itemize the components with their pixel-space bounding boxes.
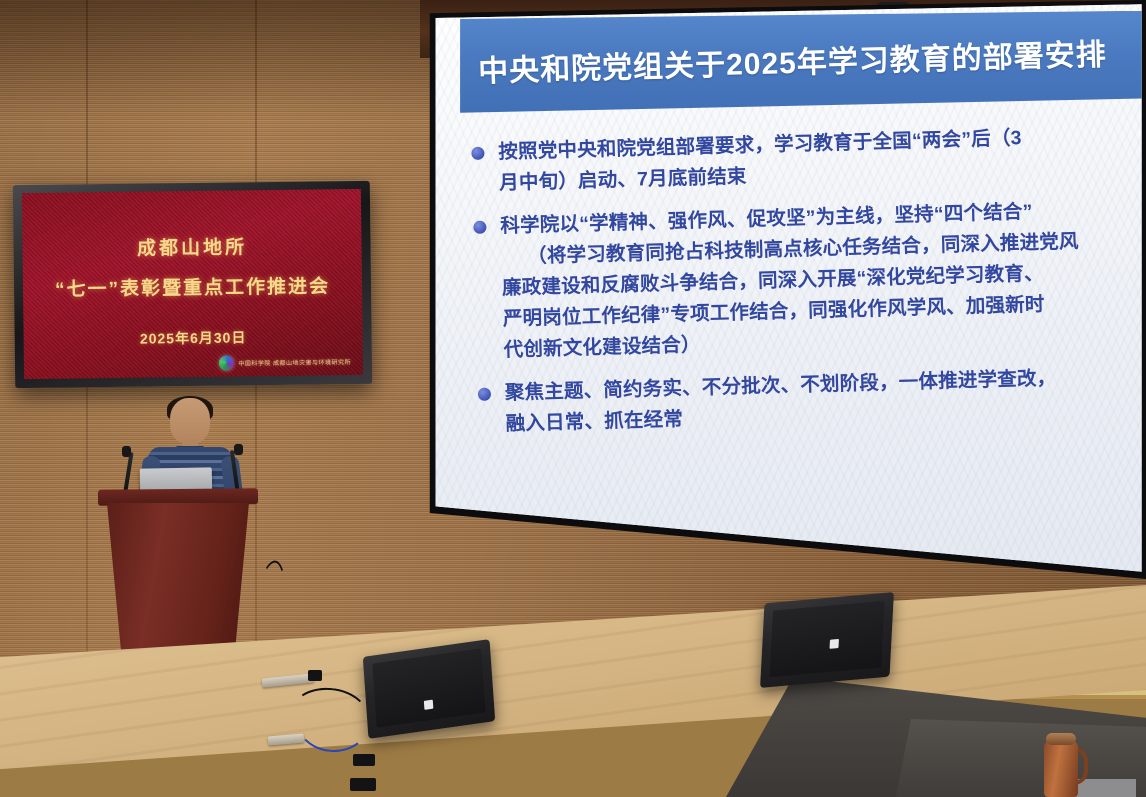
bullet-line: 按照党中央和院党组部署要求，学习教育于全国“两会”后（3 xyxy=(498,127,1022,163)
slide-bullet-item: 聚焦主题、简约务实、不分批次、不划阶段，一体推进学查改， 融入日常、抓在经常 xyxy=(477,361,1139,441)
led-banner-screen: 成都山地所 “七一”表彰暨重点工作推进会 2025年6月30日 中国科学院 成都… xyxy=(22,189,363,379)
bullet-dot-icon xyxy=(473,221,486,234)
stage-monitor-badge-icon xyxy=(424,700,434,710)
microphone-head-left xyxy=(122,446,131,457)
thermos-lid xyxy=(1046,733,1076,745)
stage-monitor-grill xyxy=(770,601,885,677)
slide-bullet-item: 科学院以“学精神、强作风、促攻坚”为主线，坚持“四个结合” （将学习教育同抢占科… xyxy=(473,194,1138,367)
institute-logo-icon xyxy=(219,355,234,370)
bullet-text: 聚焦主题、简约务实、不分批次、不划阶段，一体推进学查改， 融入日常、抓在经常 xyxy=(504,363,1057,440)
slide-bullet-list: 按照党中央和院党组部署要求，学习教育于全国“两会”后（3 月中旬）启动、7月底前… xyxy=(471,120,1140,453)
thermos-pitcher xyxy=(1044,731,1088,797)
screen-surface: 中央和院党组关于2025年学习教育的部署安排 按照党中央和院党组部署要求，学习教… xyxy=(424,0,1146,600)
institute-logo-text: 中国科学院 成都山地灾害与环境研究所 xyxy=(238,357,351,367)
bullet-dot-icon xyxy=(478,388,491,401)
slide-bullet-item: 按照党中央和院党组部署要求，学习教育于全国“两会”后（3 月中旬）启动、7月底前… xyxy=(471,120,1133,200)
cable-clamp xyxy=(353,754,375,766)
institute-logo: 中国科学院 成都山地灾害与环境研究所 xyxy=(219,354,351,371)
presenter-head xyxy=(170,398,210,444)
microphone-head-right xyxy=(234,444,243,455)
cable-connector xyxy=(308,670,322,681)
stage-monitor-right xyxy=(760,592,894,688)
bullet-line: 聚焦主题、简约务实、不分批次、不划阶段，一体推进学查改， xyxy=(505,367,1057,404)
bullet-line: 严明岗位工作纪律”专项工作结合，同强化作风学风、加强新时 xyxy=(503,294,1045,331)
slide-title-band: 中央和院党组关于2025年学习教育的部署安排 xyxy=(460,11,1142,113)
podium-body xyxy=(107,503,249,653)
slide-title: 中央和院党组关于2025年学习教育的部署安排 xyxy=(478,29,1108,90)
led-banner-date: 2025年6月30日 xyxy=(140,327,247,348)
bullet-line: 融入日常、抓在经常 xyxy=(505,408,683,435)
thermos-body xyxy=(1044,741,1078,797)
led-banner-line2: “七一”表彰暨重点工作推进会 xyxy=(55,271,330,301)
cable-clamp xyxy=(350,778,376,791)
slide-content: 中央和院党组关于2025年学习教育的部署安排 按照党中央和院党组部署要求，学习教… xyxy=(424,0,1146,600)
bullet-line: 代创新文化建设结合） xyxy=(503,334,701,361)
bullet-text: 按照党中央和院党组部署要求，学习教育于全国“两会”后（3 月中旬）启动、7月底前… xyxy=(498,123,1023,199)
presentation-screen: 中央和院党组关于2025年学习教育的部署安排 按照党中央和院党组部署要求，学习教… xyxy=(424,0,1146,600)
bullet-dot-icon xyxy=(471,147,484,160)
bullet-text: 科学院以“学精神、强作风、促攻坚”为主线，坚持“四个结合” （将学习教育同抢占科… xyxy=(500,196,1082,367)
led-banner-frame: 成都山地所 “七一”表彰暨重点工作推进会 2025年6月30日 中国科学院 成都… xyxy=(13,181,372,388)
stage-monitor-badge-icon xyxy=(830,639,839,649)
led-banner-line1: 成都山地所 xyxy=(137,232,247,260)
bullet-line: 月中旬）启动、7月底前结束 xyxy=(499,166,747,195)
conference-photo-scene: 成都山地所 “七一”表彰暨重点工作推进会 2025年6月30日 中国科学院 成都… xyxy=(0,0,1146,797)
